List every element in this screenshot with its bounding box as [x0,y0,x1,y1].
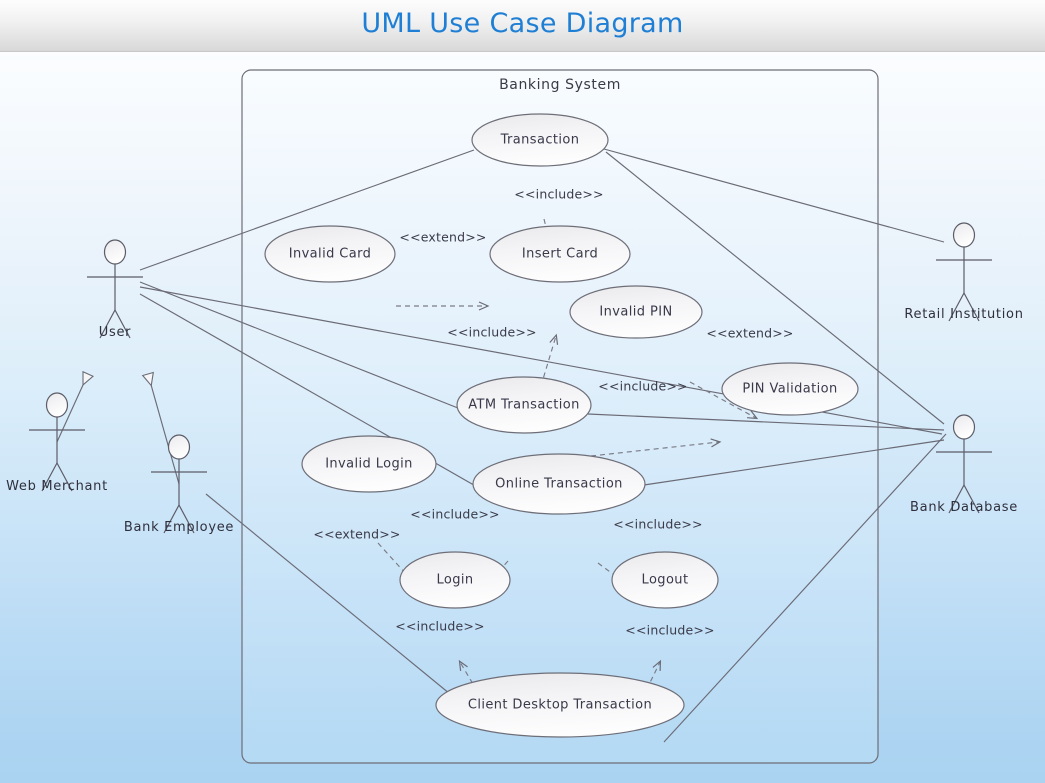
use-case-atm-transaction [457,377,591,433]
actor-retail-institution [936,223,992,321]
use-case-client-desktop-transaction [436,673,684,737]
use-case-login [400,552,510,608]
generalization-lines [57,374,179,484]
actor-web-merchant [29,393,85,491]
use-case-pin-validation [722,363,858,415]
diagram-canvas[interactable]: Banking System Transaction Invalid Card … [0,52,1045,783]
use-case-insert-card [490,226,630,282]
use-case-invalid-pin [570,286,702,338]
page-title: UML Use Case Diagram [0,8,1045,39]
actor-bank-employee [151,435,207,533]
title-bar: UML Use Case Diagram [0,0,1045,52]
use-case-invalid-login [302,436,436,492]
actor-bank-database [936,415,992,513]
use-case-invalid-card [265,226,395,282]
use-case-transaction [472,114,608,166]
use-case-online-transaction [473,454,645,514]
diagram-vector-layer [0,52,1045,783]
uml-use-case-diagram-page: UML Use Case Diagram [0,0,1045,783]
gen-bankemployee-user [148,374,179,484]
use-case-logout [612,552,718,608]
actor-user [87,240,143,338]
